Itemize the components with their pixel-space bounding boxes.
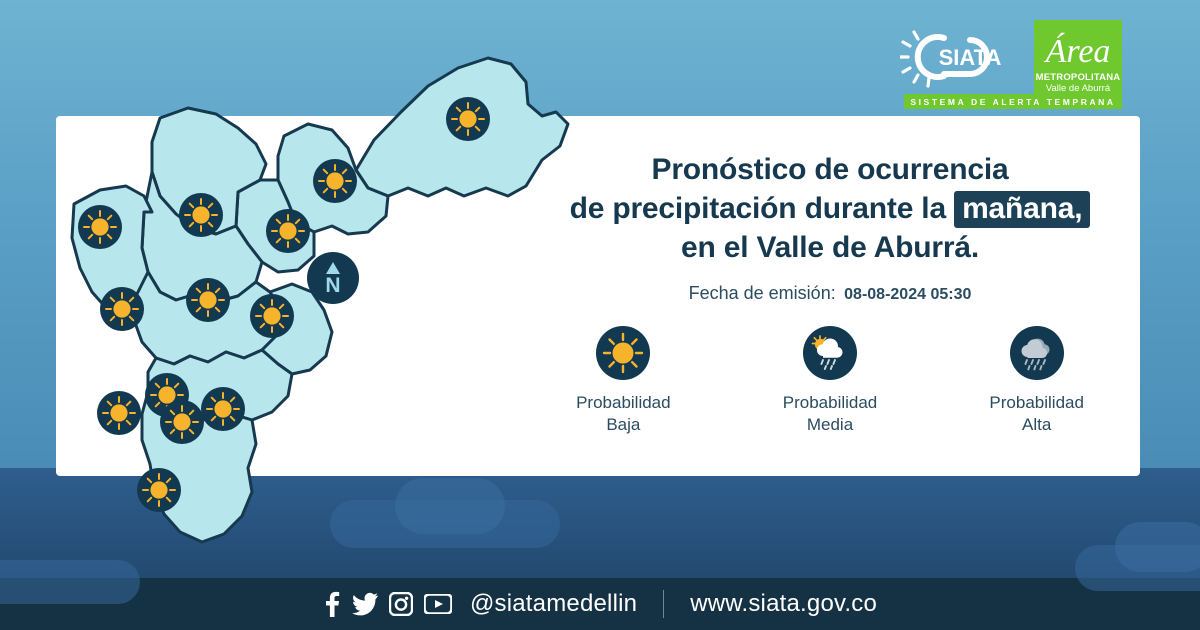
legend-label-line1: Probabilidad [576,392,671,414]
title-highlight-manana: mañana, [954,191,1090,228]
legend-label-line1: Probabilidad [783,392,878,414]
legend-label-line1: Probabilidad [989,392,1084,414]
legend-label-baja: Probabilidad Baja [576,392,671,436]
legend-item-baja[interactable]: Probabilidad Baja [520,326,727,436]
legend-item-alta[interactable]: Probabilidad Alta [933,326,1140,436]
infographic-root: N Pronóstico de ocurrencia de precipitac… [0,0,1200,630]
sun-icon [186,278,230,322]
instagram-icon[interactable] [389,592,413,616]
amva-script-icon: Área [1034,22,1122,72]
map-marker-medellin-centro[interactable] [100,287,144,331]
legend-label-line2: Media [783,414,878,436]
footer-divider [663,590,664,618]
facebook-icon[interactable] [323,591,341,617]
sun-icon [160,400,204,444]
forecast-panel: Pronóstico de ocurrencia de precipitació… [520,150,1140,460]
amva-line1: METROPOLITANA [1036,72,1121,83]
social-handle[interactable]: @siatamedellin [470,590,637,618]
emission-date-value: 08-08-2024 05:30 [844,286,971,303]
map-marker-barbosa[interactable] [446,97,490,141]
rain-cloud-icon [1010,326,1064,380]
youtube-icon[interactable] [424,594,452,614]
map-marker-copacabana[interactable] [266,209,310,253]
sun-icon [266,209,310,253]
sun-icon [250,294,294,338]
sun-icon [179,193,223,237]
probability-legend: Probabilidad Baja [520,326,1140,436]
map-marker-sabaneta[interactable] [97,391,141,435]
amva-line2: Valle de Aburrá [1046,83,1110,94]
legend-item-media[interactable]: Probabilidad Media [727,326,934,436]
title-line-2-text: de precipitación durante la [570,192,946,225]
amva-logo: Área METROPOLITANA Valle de Aburrá [1034,20,1122,98]
map-marker-san-pedro[interactable] [78,205,122,249]
siata-tagline-text: SISTEMA DE ALERTA TEMPRANA [910,97,1115,107]
page-title: Pronóstico de ocurrencia de precipitació… [520,150,1140,267]
siata-wordmark: SIATA [939,45,1002,70]
sun-icon [446,97,490,141]
cloud-silhouette [1115,522,1200,572]
sun-icon [313,159,357,203]
sun-icon [201,387,245,431]
sun-icon [97,391,141,435]
map-marker-girardota[interactable] [313,159,357,203]
title-line-3: en el Valle de Aburrá. [520,228,1140,267]
sun-icon [78,205,122,249]
title-line-2: de precipitación durante la mañana, [520,189,1140,228]
title-line-1: Pronóstico de ocurrencia [520,150,1140,189]
map-valle-de-aburra[interactable]: N [56,20,576,580]
emission-date-label: Fecha de emisión: [689,283,836,303]
map-marker-la-estrella[interactable] [160,400,204,444]
legend-label-media: Probabilidad Media [783,392,878,436]
siata-logo: SIATA [900,24,1030,90]
legend-label-alta: Probabilidad Alta [989,392,1084,436]
compass-north-icon: N [307,252,359,304]
logo-group: SIATA Área METROPOLITANA Valle de Aburrá… [900,20,1125,112]
twitter-icon[interactable] [352,592,378,616]
map-marker-itagui[interactable] [250,294,294,338]
legend-label-line2: Baja [576,414,671,436]
map-marker-caldas-sur[interactable] [137,468,181,512]
emission-date-row: Fecha de emisión: 08-08-2024 05:30 [520,283,1140,304]
map-marker-bello[interactable] [179,193,223,237]
website-url[interactable]: www.siata.gov.co [690,590,877,618]
map-marker-caldas[interactable] [201,387,245,431]
map-marker-medellin-norte[interactable] [186,278,230,322]
compass-label: N [325,274,340,297]
sun-icon [100,287,144,331]
legend-label-line2: Alta [989,414,1084,436]
sun-icon [137,468,181,512]
amva-script-text: Área [1044,33,1111,70]
sun-icon [596,326,650,380]
sun-rain-cloud-icon [803,326,857,380]
footer: @siatamedellin www.siata.gov.co [0,578,1200,630]
social-icons [323,591,452,617]
siata-tagline-bar: SISTEMA DE ALERTA TEMPRANA [904,94,1122,109]
